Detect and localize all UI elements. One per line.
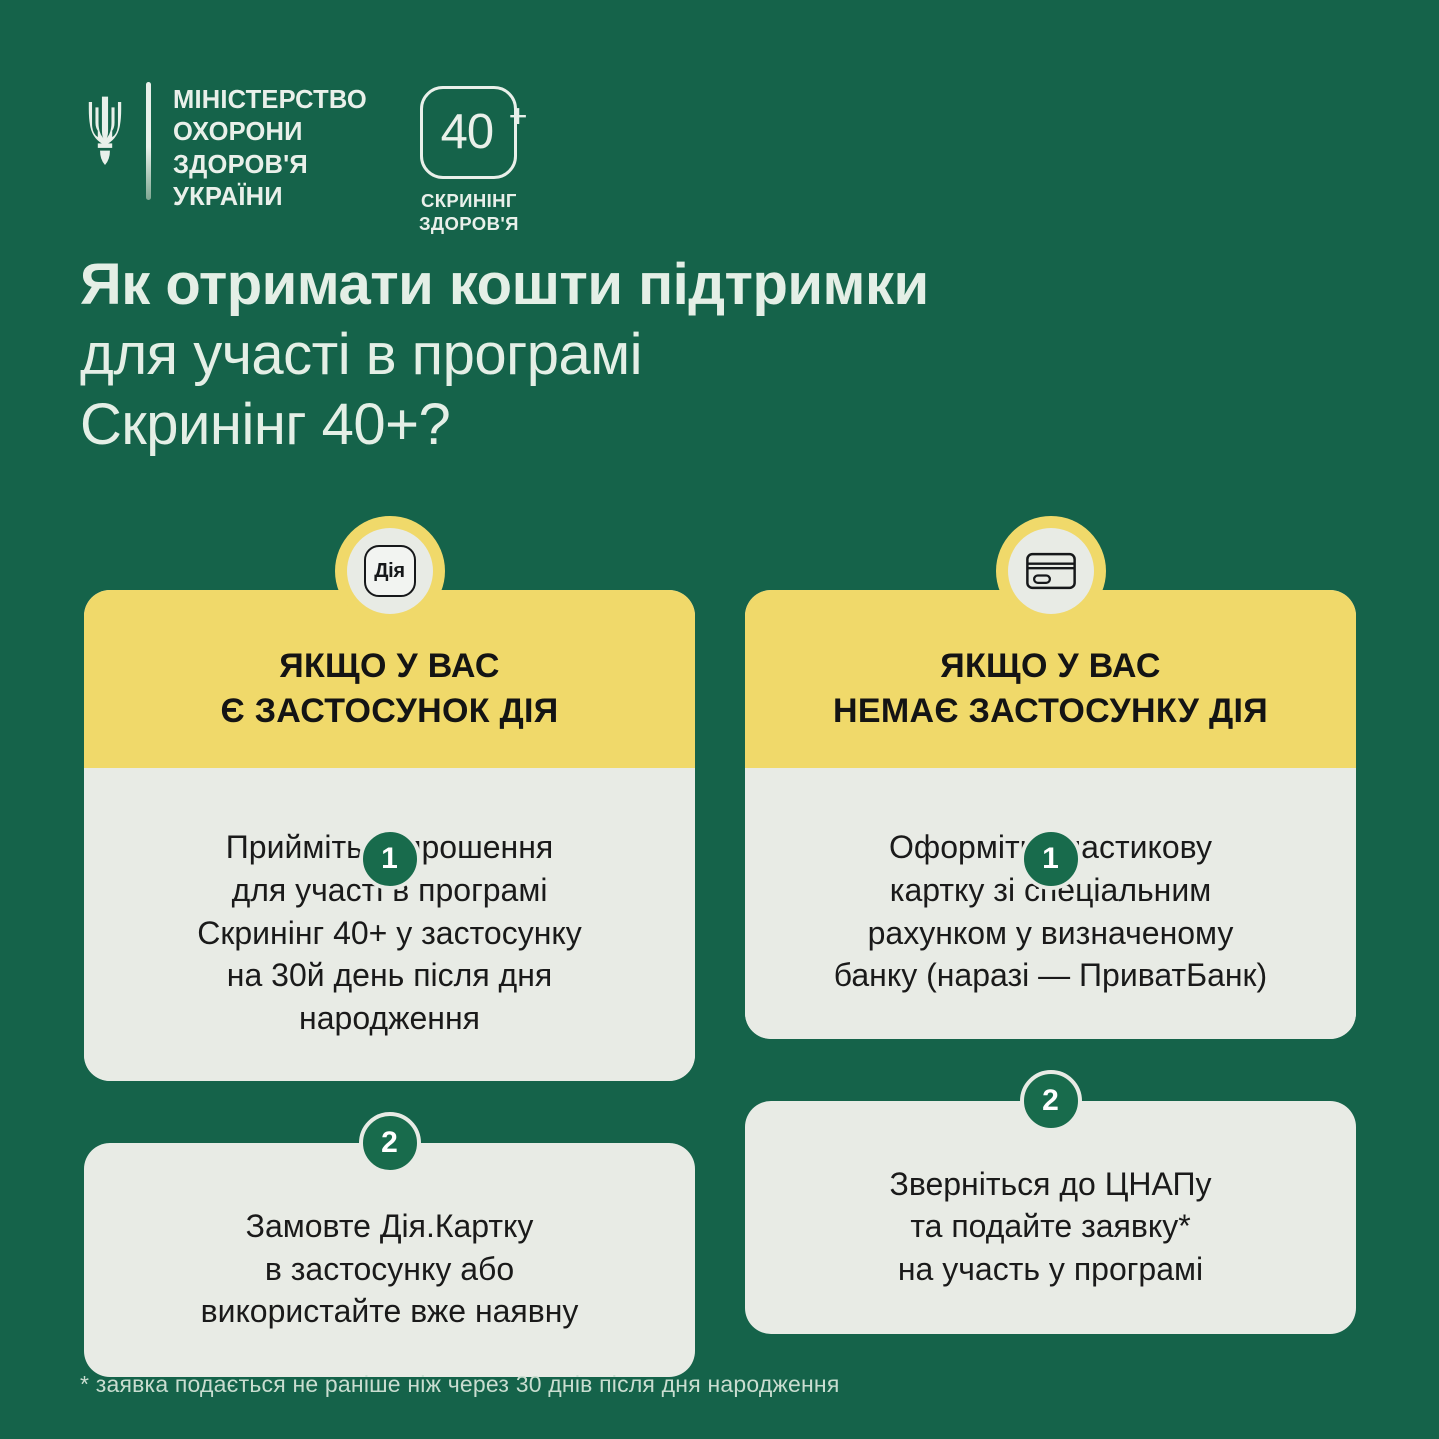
step-2-text: Зверніться до ЦНАПу та подайте заявку* н…	[761, 1163, 1340, 1291]
card-body-step-1: Оформіть пластикову картку зі спеціальни…	[745, 768, 1356, 1038]
diia-label: Дія	[374, 561, 405, 581]
forty-plus-badge: 40 +	[420, 86, 517, 179]
badge-circle	[1008, 528, 1094, 614]
title-line-3: Скринінг 40+?	[80, 390, 1330, 460]
logo-divider	[146, 82, 151, 200]
card-step-2-no-diia: 2 Зверніться до ЦНАПу та подайте заявку*…	[745, 1101, 1356, 1335]
screening-caption: Скринінг Здоров'я	[419, 190, 519, 235]
column-has-diia-app: Дія ЯКЩО У ВАС Є ЗАСТОСУНОК ДІЯ 1 Приймі…	[84, 516, 695, 1377]
diia-app-icon: Дія	[364, 545, 416, 597]
page-title: Як отримати кошти підтримки для участі в…	[80, 250, 1330, 461]
footnote: * заявка подається не раніше ніж через 3…	[80, 1371, 839, 1398]
bank-card-badge	[996, 516, 1106, 626]
card-body-step-1: Прийміть запрошення для участі в програм…	[84, 768, 695, 1081]
options-columns: Дія ЯКЩО У ВАС Є ЗАСТОСУНОК ДІЯ 1 Приймі…	[84, 516, 1356, 1377]
card-step-2-has-diia: 2 Замовте Дія.Картку в застосунку або ви…	[84, 1143, 695, 1377]
step-number-1: 1	[1020, 828, 1082, 890]
step-number-1: 1	[359, 828, 421, 890]
screening-40-plus-logo: 40 + Скринінг Здоров'я	[419, 82, 519, 235]
card-no-diia: ЯКЩО У ВАС НЕМАЄ ЗАСТОСУНКУ ДІЯ 1 Оформі…	[745, 590, 1356, 1039]
card-heading-text: ЯКЩО У ВАС НЕМАЄ ЗАСТОСУНКУ ДІЯ	[767, 644, 1334, 734]
step-2-text: Замовте Дія.Картку в застосунку або вико…	[100, 1205, 679, 1333]
credit-card-icon	[1024, 544, 1078, 598]
ministry-of-health-logo: Міністерство охорони здоров'я України	[78, 82, 367, 214]
ukraine-trident-icon	[78, 82, 132, 194]
ministry-name: Міністерство охорони здоров'я України	[173, 82, 367, 214]
diia-app-badge: Дія	[335, 516, 445, 626]
infographic-poster: Міністерство охорони здоров'я України 40…	[0, 0, 1439, 1439]
column-no-diia-app: ЯКЩО У ВАС НЕМАЄ ЗАСТОСУНКУ ДІЯ 1 Оформі…	[745, 516, 1356, 1377]
plus-sign: +	[509, 100, 528, 132]
title-line-2: для участі в програмі	[80, 320, 1330, 390]
header-logos: Міністерство охорони здоров'я України 40…	[78, 82, 519, 235]
step-number-2: 2	[359, 1112, 421, 1174]
badge-circle: Дія	[347, 528, 433, 614]
card-has-diia: ЯКЩО У ВАС Є ЗАСТОСУНОК ДІЯ 1 Прийміть з…	[84, 590, 695, 1081]
step-number-2: 2	[1020, 1070, 1082, 1132]
card-heading-text: ЯКЩО У ВАС Є ЗАСТОСУНОК ДІЯ	[106, 644, 673, 734]
forty-number: 40	[441, 108, 494, 157]
title-line-1: Як отримати кошти підтримки	[80, 250, 1330, 320]
